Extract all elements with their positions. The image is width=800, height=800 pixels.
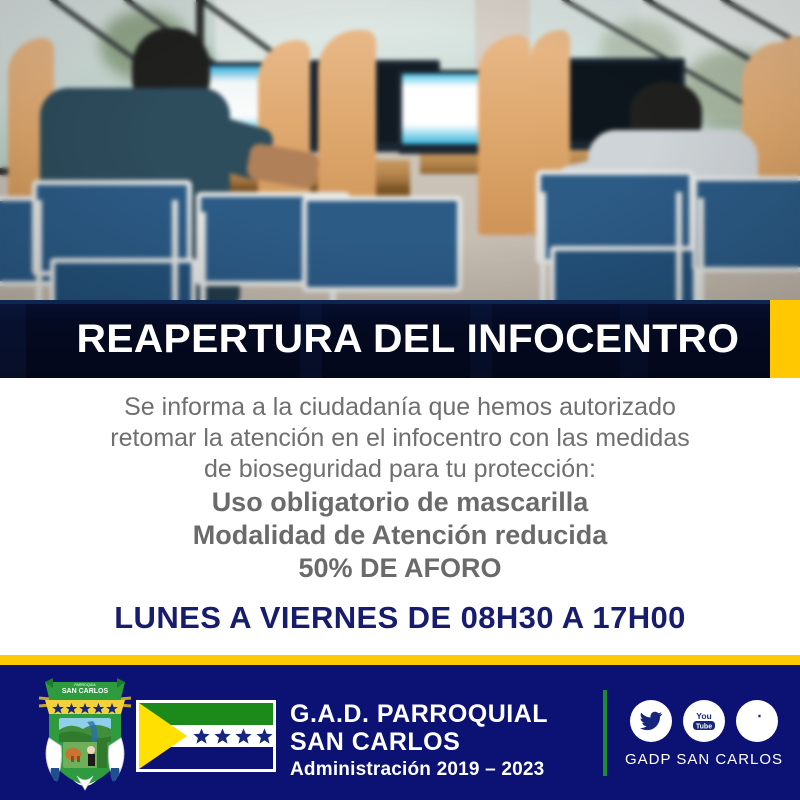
facebook-icon[interactable] bbox=[736, 700, 778, 742]
svg-text:SAN CARLOS: SAN CARLOS bbox=[62, 688, 109, 695]
svg-text:PARROQUIA: PARROQUIA bbox=[74, 683, 96, 687]
footer-yellow-rule bbox=[0, 655, 800, 665]
flag-icon bbox=[136, 700, 276, 772]
flag-triangle bbox=[139, 703, 187, 769]
page-title: REAPERTURA DEL INFOCENTRO bbox=[0, 300, 785, 378]
org-administration-period: Administración 2019 – 2023 bbox=[290, 758, 590, 782]
schedule-text: LUNES A VIERNES DE 08H30 A 17H00 bbox=[50, 600, 750, 636]
intro-line-3: de bioseguridad para tu protección: bbox=[50, 454, 750, 485]
youtube-icon[interactable]: You Tube bbox=[683, 700, 725, 742]
social-block: You Tube GADP SAN CARLOS bbox=[624, 700, 784, 768]
svg-text:Tube: Tube bbox=[696, 723, 712, 730]
flag-star-icon bbox=[235, 728, 252, 745]
org-line-1: G.A.D. PARROQUIAL bbox=[290, 700, 590, 728]
social-icon-row: You Tube bbox=[624, 700, 784, 742]
measure-mask: Uso obligatorio de mascarilla bbox=[50, 486, 750, 519]
coat-of-arms-icon: SAN CARLOS PARROQUIA bbox=[35, 676, 135, 792]
organization-name: G.A.D. PARROQUIAL SAN CARLOS Administrac… bbox=[290, 700, 590, 782]
header-photo bbox=[0, 0, 800, 302]
flag-star-icon bbox=[193, 728, 210, 745]
poster: REAPERTURA DEL INFOCENTRO Se informa a l… bbox=[0, 0, 800, 800]
social-handle: GADP SAN CARLOS bbox=[624, 751, 784, 768]
org-line-2: SAN CARLOS bbox=[290, 728, 590, 756]
measure-reduced-service: Modalidad de Atención reducida bbox=[50, 519, 750, 552]
measures-list: Uso obligatorio de mascarilla Modalidad … bbox=[50, 486, 750, 585]
svg-text:You: You bbox=[696, 711, 711, 721]
flag-star-icon bbox=[256, 728, 273, 745]
body-section: Se informa a la ciudadanía que hemos aut… bbox=[0, 378, 800, 655]
intro-line-2: retomar la atención en el infocentro con… bbox=[50, 423, 750, 454]
title-banner: REAPERTURA DEL INFOCENTRO bbox=[0, 300, 800, 378]
banner-accent-bar bbox=[770, 300, 800, 378]
measure-capacity: 50% DE AFORO bbox=[50, 552, 750, 585]
flag-star-icon bbox=[214, 728, 231, 745]
flag-stars bbox=[193, 728, 273, 745]
twitter-icon[interactable] bbox=[630, 700, 672, 742]
photo-vignette bbox=[0, 0, 800, 302]
footer-vertical-divider bbox=[603, 690, 607, 776]
intro-paragraph: Se informa a la ciudadanía que hemos aut… bbox=[50, 392, 750, 485]
intro-line-1: Se informa a la ciudadanía que hemos aut… bbox=[50, 392, 750, 423]
